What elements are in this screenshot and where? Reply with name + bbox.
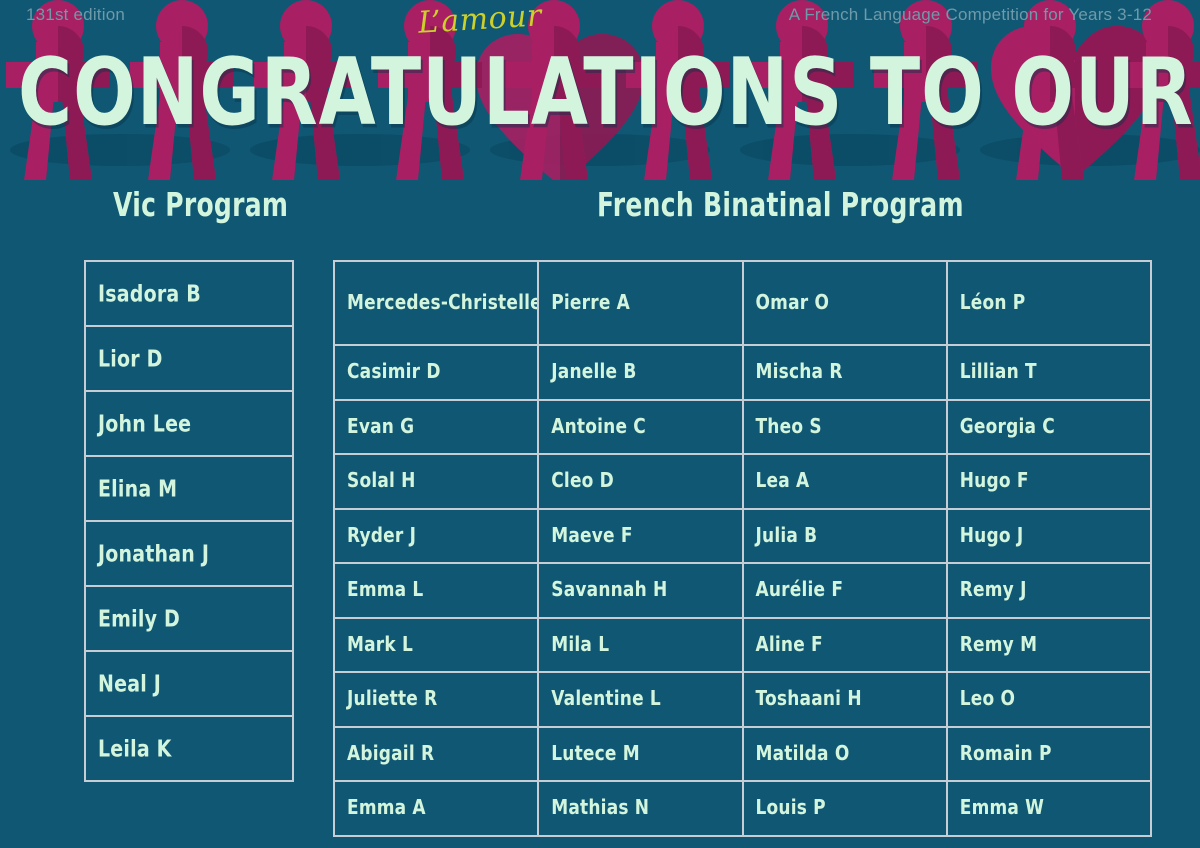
table-cell: Mercedes-Christelle C: [335, 262, 539, 346]
table-cell: Abigail R: [335, 728, 539, 783]
finalist-name: Maeve F: [551, 524, 632, 548]
table-cell: Lea A: [744, 455, 948, 510]
table-cell: Antoine C: [539, 401, 743, 456]
finalist-name: Emily D: [98, 605, 180, 632]
finalist-name: Mischa R: [756, 360, 843, 384]
section-heading-binational: French Binatinal Program: [597, 186, 964, 224]
edition-label: 131st edition: [26, 5, 125, 25]
table-cell: Mila L: [539, 619, 743, 674]
table-cell: Aurélie F: [744, 564, 948, 619]
table-cell: Leo O: [948, 673, 1152, 728]
table-cell: Hugo J: [948, 510, 1152, 565]
finalist-name: Emma A: [347, 796, 426, 820]
finalist-name: Casimir D: [347, 360, 441, 384]
finalist-name: Savannah H: [551, 578, 667, 602]
table-cell: Mark L: [335, 619, 539, 674]
table-cell: Janelle B: [539, 346, 743, 401]
table-cell: Ryder J: [335, 510, 539, 565]
table-cell: Maeve F: [539, 510, 743, 565]
vic-program-finalist-list: Isadora BLior DJohn LeeElina MJonathan J…: [84, 260, 294, 782]
finalist-name: Isadora B: [98, 280, 201, 307]
finalist-name: Aurélie F: [756, 578, 844, 602]
finalist-name: Solal H: [347, 469, 416, 493]
finalist-name: Emma W: [960, 796, 1044, 820]
table-cell: Remy M: [948, 619, 1152, 674]
table-cell: Evan G: [335, 401, 539, 456]
table-cell: Toshaani H: [744, 673, 948, 728]
table-cell: Emma L: [335, 564, 539, 619]
finalist-name: Evan G: [347, 415, 414, 439]
table-cell: Emma A: [335, 782, 539, 837]
finalist-name: Hugo F: [960, 469, 1029, 493]
table-cell: Solal H: [335, 455, 539, 510]
table-cell: Georgia C: [948, 401, 1152, 456]
list-item: Jonathan J: [86, 522, 292, 587]
table-cell: Pierre A: [539, 262, 743, 346]
table-cell: Omar O: [744, 262, 948, 346]
finalist-name: Remy J: [960, 578, 1027, 602]
finalist-name: Elina M: [98, 475, 177, 502]
table-cell: Cleo D: [539, 455, 743, 510]
table-cell: Louis P: [744, 782, 948, 837]
list-item: John Lee: [86, 392, 292, 457]
finalist-name: Mila L: [551, 633, 609, 657]
table-cell: Mischa R: [744, 346, 948, 401]
table-cell: Savannah H: [539, 564, 743, 619]
finalist-name: Louis P: [756, 796, 826, 820]
finalist-name: Omar O: [756, 291, 830, 315]
table-cell: Lutece M: [539, 728, 743, 783]
finalist-name: Juliette R: [347, 687, 437, 711]
table-cell: Matilda O: [744, 728, 948, 783]
finalist-name: Pierre A: [551, 291, 630, 315]
finalist-name: Hugo J: [960, 524, 1024, 548]
section-heading-vic: Vic Program: [113, 186, 288, 224]
table-cell: Mathias N: [539, 782, 743, 837]
header-banner: 131st edition A French Language Competit…: [0, 0, 1200, 180]
finalist-name: Mathias N: [551, 796, 649, 820]
finalist-name: Theo S: [756, 415, 822, 439]
finalist-name: John Lee: [98, 410, 191, 437]
table-cell: Remy J: [948, 564, 1152, 619]
finalist-name: Toshaani H: [756, 687, 862, 711]
finalist-name: Mark L: [347, 633, 413, 657]
finalist-name: Antoine C: [551, 415, 646, 439]
finalist-name: Lior D: [98, 345, 163, 372]
finalist-name: Lutece M: [551, 742, 640, 766]
list-item: Emily D: [86, 587, 292, 652]
list-item: Isadora B: [86, 262, 292, 327]
tagline-label: A French Language Competition for Years …: [789, 5, 1152, 25]
list-item: Leila K: [86, 717, 292, 782]
table-cell: Juliette R: [335, 673, 539, 728]
finalist-name: Leo O: [960, 687, 1015, 711]
finalist-name: Neal J: [98, 670, 161, 697]
table-cell: Casimir D: [335, 346, 539, 401]
list-item: Lior D: [86, 327, 292, 392]
table-cell: Hugo F: [948, 455, 1152, 510]
finalist-name: Valentine L: [551, 687, 661, 711]
finalist-name: Matilda O: [756, 742, 850, 766]
list-item: Neal J: [86, 652, 292, 717]
finalist-name: Georgia C: [960, 415, 1055, 439]
table-cell: Julia B: [744, 510, 948, 565]
page-title: CONGRATULATIONS TO OUR FINALISTS: [18, 46, 1182, 139]
finalist-name: Remy M: [960, 633, 1037, 657]
finalist-name: Abigail R: [347, 742, 434, 766]
table-cell: Romain P: [948, 728, 1152, 783]
finalist-name: Ryder J: [347, 524, 416, 548]
finalist-name: Janelle B: [551, 360, 636, 384]
table-cell: Valentine L: [539, 673, 743, 728]
finalist-name: Jonathan J: [98, 540, 209, 567]
table-cell: Emma W: [948, 782, 1152, 837]
finalist-name: Aline F: [756, 633, 823, 657]
list-item: Elina M: [86, 457, 292, 522]
finalist-name: Mercedes-Christelle C: [347, 291, 539, 315]
finalist-name: Cleo D: [551, 469, 614, 493]
table-cell: Lillian T: [948, 346, 1152, 401]
finalist-name: Leila K: [98, 735, 172, 762]
finalist-name: Romain P: [960, 742, 1052, 766]
finalist-name: Emma L: [347, 578, 423, 602]
table-cell: Aline F: [744, 619, 948, 674]
finalist-name: Lillian T: [960, 360, 1037, 384]
table-cell: Theo S: [744, 401, 948, 456]
table-cell: Léon P: [948, 262, 1152, 346]
finalist-name: Julia B: [756, 524, 818, 548]
binational-program-finalist-grid: Mercedes-Christelle CPierre AOmar OLéon …: [333, 260, 1152, 837]
finalist-name: Lea A: [756, 469, 810, 493]
finalist-name: Léon P: [960, 291, 1026, 315]
